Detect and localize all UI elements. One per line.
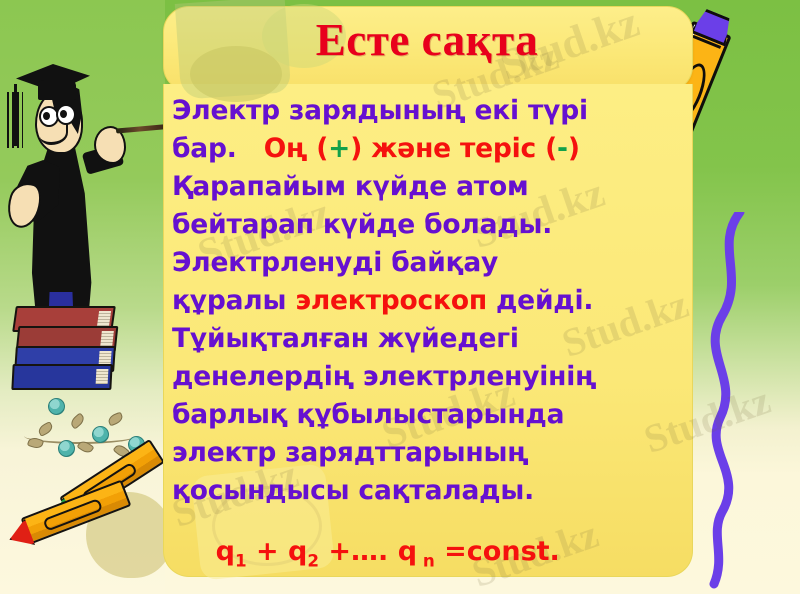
text-segment: Электр зарядының екі түрі — [172, 95, 588, 126]
page-title: Есте сақта — [163, 14, 691, 66]
book-stack-illustration — [14, 306, 126, 390]
body-text-line: құралы электроскоп дейді. — [172, 282, 684, 320]
text-segment: денелердің электрленуінің — [172, 361, 596, 392]
book-pages — [97, 311, 111, 326]
body-text-line: бейтарап күйде болады. — [172, 206, 684, 244]
text-segment: дейді. — [487, 285, 593, 316]
body-text-line: Электр зарядының екі түрі — [172, 92, 684, 130]
text-segment: Оң ( — [237, 133, 329, 164]
rose-icon — [48, 398, 65, 415]
text-segment: ) — [568, 133, 580, 164]
formula-sub1: 1 — [235, 550, 247, 570]
formula-sub2: 2 — [307, 550, 319, 570]
text-segment: қосындысы сақталады. — [172, 475, 534, 506]
text-segment: ) және теріс ( — [350, 133, 557, 164]
graduation-cap-base — [38, 80, 76, 100]
rose-icon — [92, 426, 109, 443]
body-text-line: барлық құбылыстарында — [172, 396, 684, 434]
text-segment: - — [557, 133, 568, 164]
text-segment: барлық құбылыстарында — [172, 399, 564, 430]
formula-q2: q — [288, 536, 307, 567]
text-segment: + — [328, 133, 350, 164]
text-segment: құралы — [172, 285, 295, 316]
text-segment: бейтарап күйде болады. — [172, 209, 552, 240]
text-segment: электр зарядттарының — [172, 437, 529, 468]
text-segment: бар. — [172, 133, 237, 164]
cap-tassel — [7, 92, 23, 148]
text-segment: Қарапайым күйде атом — [172, 171, 528, 202]
professor-left-pupil — [43, 112, 50, 120]
text-segment: Электрленуді байқау — [172, 247, 498, 278]
body-text-line: денелердің электрленуінің — [172, 358, 684, 396]
book-item — [11, 364, 112, 390]
body-text-line: электр зарядттарының — [172, 434, 684, 472]
formula-middle: +…. — [319, 536, 398, 567]
body-text-line: Электрленуді байқау — [172, 244, 684, 282]
book-pages — [100, 331, 114, 346]
body-text-line: бар. Оң (+) және теріс (-) — [172, 130, 684, 168]
body-text-line: Қарапайым күйде атом — [172, 168, 684, 206]
formula-tail: =const. — [435, 536, 560, 567]
purple-squiggle-icon — [700, 212, 760, 592]
formula-q1: q — [216, 536, 235, 567]
slide-canvas: Stud.kz Stud.kz Stud.kz Stud.kz Stud.kz … — [0, 0, 800, 594]
formula-subn: n — [417, 550, 435, 570]
leaf-icon — [107, 412, 125, 427]
professor-right-pupil — [60, 110, 67, 118]
body-text-block: Электр зарядының екі түрібар. Оң (+) жән… — [172, 92, 684, 510]
book-pages — [96, 369, 109, 384]
formula-qn: q — [398, 536, 417, 567]
charge-conservation-formula: q1 + q2 +…. q n =const. — [178, 505, 560, 594]
formula-plus1: + — [247, 536, 288, 567]
professor-illustration — [4, 20, 174, 330]
floral-vine-illustration — [16, 396, 146, 458]
rose-icon — [58, 440, 75, 457]
text-segment: Тұйықталған жүйедегі — [172, 323, 519, 354]
text-segment: электроскоп — [295, 285, 487, 316]
body-text-line: Тұйықталған жүйедегі — [172, 320, 684, 358]
